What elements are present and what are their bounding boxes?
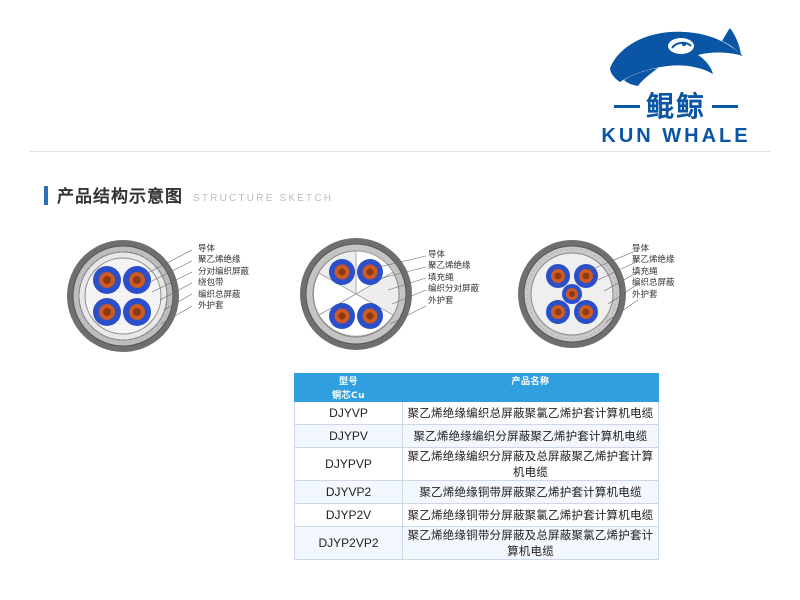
cell-name: 聚乙烯绝缘铜带分屏蔽及总屏蔽聚氯乙烯护套计算机电缆	[403, 527, 659, 560]
cell-name: 聚乙烯绝缘编织总屏蔽聚氯乙烯护套计算机电缆	[403, 402, 659, 425]
cable-cross-section-2	[290, 236, 430, 366]
cell-model: DJYP2VP2	[295, 527, 403, 560]
header-product-name: 产品名称	[403, 374, 659, 388]
cell-name: 聚乙烯绝缘编织分屏蔽聚乙烯护套计算机电缆	[403, 425, 659, 448]
table-row: DJYVP2 聚乙烯绝缘铜带屏蔽聚乙烯护套计算机电缆	[295, 481, 659, 504]
table-body: DJYVP 聚乙烯绝缘编织总屏蔽聚氯乙烯护套计算机电缆 DJYPV 聚乙烯绝缘编…	[295, 402, 659, 560]
cable-1-labels: 导体 聚乙烯绝缘 分对编织屏蔽 绕包带 编织总屏蔽 外护套	[198, 244, 249, 312]
label-3-2: 聚乙烯绝缘	[632, 255, 675, 266]
label-3-1: 导体	[632, 244, 675, 255]
label-1-6: 外护套	[198, 301, 249, 312]
label-2-4: 编织分对屏蔽	[428, 284, 479, 295]
structure-diagrams: 导体 聚乙烯绝缘 分对编织屏蔽 绕包带 编织总屏蔽 外护套	[0, 236, 800, 366]
label-1-1: 导体	[198, 244, 249, 255]
page-header: 鲲鲸 KUN WHALE	[0, 0, 800, 152]
label-1-2: 聚乙烯绝缘	[198, 255, 249, 266]
title-accent-bar	[44, 186, 48, 205]
cell-model: DJYPV	[295, 425, 403, 448]
brand-name-cn-row: 鲲鲸	[580, 88, 772, 124]
cable-cross-section-1	[60, 236, 195, 366]
product-table-wrap: 型号 产品名称 铜芯Cu DJYVP 聚乙烯绝缘编织总屏蔽聚氯乙烯护套计算机电缆…	[294, 373, 659, 560]
cell-model: DJYVP2	[295, 481, 403, 504]
section-title-cn: 产品结构示意图	[57, 188, 183, 207]
subheader-copper: 铜芯Cu	[295, 388, 403, 402]
table-row: DJYP2V 聚乙烯绝缘铜带分屏蔽聚氯乙烯护套计算机电缆	[295, 504, 659, 527]
brand-name-cn: 鲲鲸	[646, 90, 706, 124]
label-2-1: 导体	[428, 250, 479, 261]
brand-logo: 鲲鲸 KUN WHALE	[580, 22, 772, 140]
label-3-5: 外护套	[632, 290, 675, 301]
label-1-3: 分对编织屏蔽	[198, 267, 249, 278]
header-model: 型号	[295, 374, 403, 388]
table-head: 型号 产品名称 铜芯Cu	[295, 374, 659, 402]
cell-model: DJYP2V	[295, 504, 403, 527]
table-subheader-row: 铜芯Cu	[295, 388, 659, 402]
label-3-4: 编织总屏蔽	[632, 278, 675, 289]
label-2-5: 外护套	[428, 296, 479, 307]
dash-right	[712, 105, 738, 108]
product-table: 型号 产品名称 铜芯Cu DJYVP 聚乙烯绝缘编织总屏蔽聚氯乙烯护套计算机电缆…	[294, 373, 659, 560]
header-divider	[30, 151, 770, 152]
cell-name: 聚乙烯绝缘铜带分屏蔽聚氯乙烯护套计算机电缆	[403, 504, 659, 527]
section-title-en: STRUCTURE SKETCH	[193, 193, 333, 205]
cell-name: 聚乙烯绝缘铜带屏蔽聚乙烯护套计算机电缆	[403, 481, 659, 504]
table-row: DJYP2VP2 聚乙烯绝缘铜带分屏蔽及总屏蔽聚氯乙烯护套计算机电缆	[295, 527, 659, 560]
section-title: 产品结构示意图 STRUCTURE SKETCH	[44, 186, 333, 207]
label-2-2: 聚乙烯绝缘	[428, 261, 479, 272]
label-1-4: 绕包带	[198, 278, 249, 289]
table-row: DJYVP 聚乙烯绝缘编织总屏蔽聚氯乙烯护套计算机电缆	[295, 402, 659, 425]
label-3-3: 填充绳	[632, 267, 675, 278]
whale-icon	[580, 22, 772, 88]
cable-2-labels: 导体 聚乙烯绝缘 填充绳 编织分对屏蔽 外护套	[428, 250, 479, 307]
cable-3-labels: 导体 聚乙烯绝缘 填充绳 编织总屏蔽 外护套	[632, 244, 675, 301]
label-2-3: 填充绳	[428, 273, 479, 284]
brand-name-en: KUN WHALE	[580, 124, 772, 148]
page-root: 鲲鲸 KUN WHALE 产品结构示意图 STRUCTURE SKETCH	[0, 0, 800, 600]
dash-left	[614, 105, 640, 108]
cell-model: DJYVP	[295, 402, 403, 425]
subheader-blank	[403, 388, 659, 402]
table-row: DJYPV 聚乙烯绝缘编织分屏蔽聚乙烯护套计算机电缆	[295, 425, 659, 448]
table-header-row: 型号 产品名称	[295, 374, 659, 388]
cell-name: 聚乙烯绝缘编织分屏蔽及总屏蔽聚乙烯护套计算机电缆	[403, 448, 659, 481]
table-row: DJYPVP 聚乙烯绝缘编织分屏蔽及总屏蔽聚乙烯护套计算机电缆	[295, 448, 659, 481]
cable-cross-section-3	[512, 236, 642, 366]
cell-model: DJYPVP	[295, 448, 403, 481]
label-1-5: 编织总屏蔽	[198, 290, 249, 301]
